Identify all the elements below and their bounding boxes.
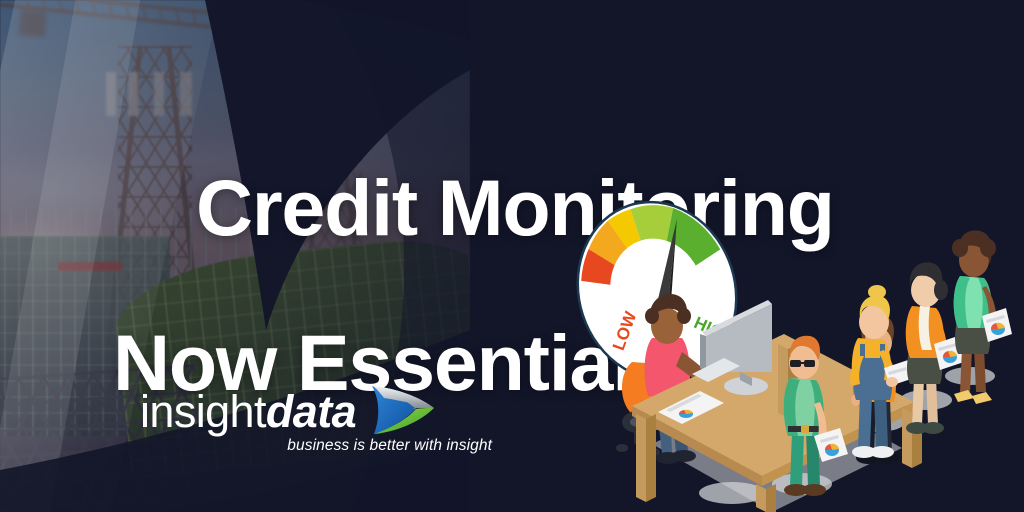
- queue-person-3: [906, 262, 964, 434]
- queue-person-4: [952, 230, 1012, 404]
- logo-word-insight: insight: [140, 386, 266, 437]
- logo-arrow-mark: [364, 378, 438, 440]
- promo-banner: Credit Monitoring Now Essential insightd…: [0, 0, 1024, 512]
- office-queue-illustration: [596, 186, 1024, 512]
- desk-leg-back-right: [902, 408, 912, 468]
- p2-bun: [868, 285, 886, 299]
- p4-shoe-left: [954, 390, 974, 402]
- insightdata-logo[interactable]: insightdata business is better with insi…: [140, 382, 438, 440]
- logo-wordmark: insightdata: [140, 389, 356, 434]
- logo-tagline: business is better with insight: [150, 437, 492, 455]
- logo-word-data: data: [266, 386, 356, 437]
- desk-leg-front-left: [636, 414, 646, 502]
- p4-shoe-right: [972, 392, 992, 404]
